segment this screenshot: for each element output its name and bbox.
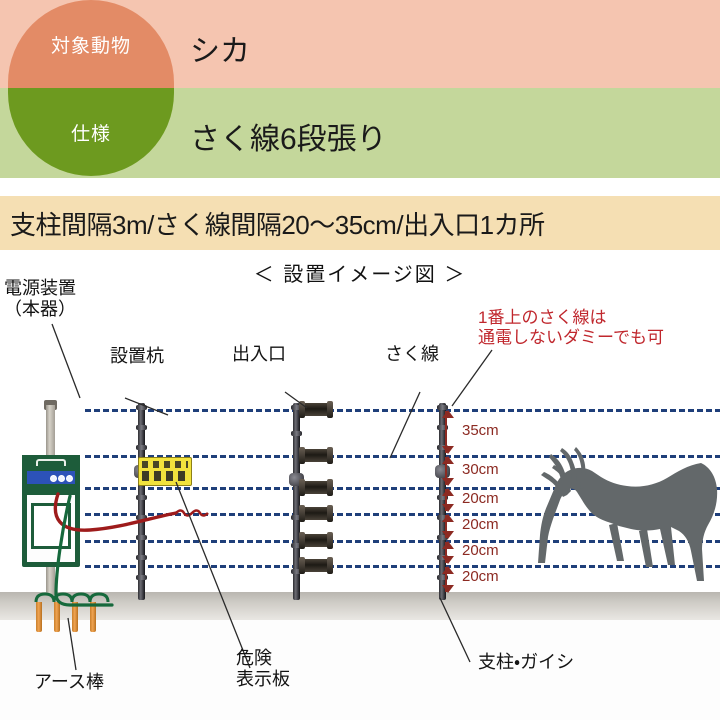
- label-post-insulator: 支柱・ガイシ: [478, 652, 574, 673]
- dimension-arrow-5: [445, 542, 447, 563]
- label-gate: 出入口: [232, 344, 286, 365]
- target-animal-value: シカ: [190, 26, 250, 70]
- leader-stake: [125, 398, 168, 415]
- leader-earth-rod: [68, 618, 76, 670]
- label-fence-wire: さく線: [385, 344, 439, 365]
- dimension-arrow-3: [445, 489, 447, 511]
- dimension-arrow-2: [445, 457, 447, 485]
- label-power-unit-line2: （本器）: [4, 299, 76, 320]
- specification-value: さく線6段張り: [190, 114, 387, 158]
- earth-lead-wire: [56, 496, 112, 605]
- deer-silhouette-icon: [505, 445, 720, 597]
- badge-target-animal-label: 対象動物: [51, 31, 131, 58]
- dimension-label-1: 35cm: [462, 422, 499, 439]
- label-danger-sign: 危険 表示板: [236, 648, 290, 690]
- label-stake: 設置杭: [110, 346, 164, 367]
- note-top-wire-dummy-line2: 通電しないダミーでも可: [478, 328, 664, 348]
- label-power-unit-line1: 電源装置: [4, 278, 76, 299]
- badge-specification-label: 仕様: [71, 119, 111, 146]
- dimension-arrow-1: [445, 411, 447, 453]
- hot-lead-wire: [55, 494, 176, 530]
- note-top-wire-dummy-line1: 1番上のさく線は: [478, 308, 664, 328]
- dimension-label-5: 20cm: [462, 542, 499, 559]
- dimension-arrow-6: [445, 567, 447, 592]
- detail-spec-text: 支柱間隔3m/さく線間隔20〜35cm/出入口1カ所: [10, 205, 545, 242]
- leader-gate: [285, 392, 307, 408]
- hot-lead-coil: [176, 511, 208, 516]
- leader-post-insulator: [440, 598, 470, 662]
- label-danger-sign-line1: 危険: [236, 648, 290, 669]
- leader-danger-sign: [176, 482, 250, 668]
- leader-power-unit: [52, 324, 80, 398]
- dimension-label-4: 20cm: [462, 516, 499, 533]
- label-earth-rod: アース棒: [34, 672, 104, 693]
- dimension-arrow-4: [445, 515, 447, 538]
- installation-diagram: ＜ 設置イメージ図 ＞: [0, 250, 720, 720]
- fence-spec-page: 対象動物 仕様 シカ さく線6段張り 支柱間隔3m/さく線間隔20〜35cm/出…: [0, 0, 720, 720]
- note-top-wire-dummy: 1番上のさく線は 通電しないダミーでも可: [478, 308, 664, 348]
- earth-rod-loops: [36, 594, 108, 602]
- label-danger-sign-line2: 表示板: [236, 669, 290, 690]
- label-power-unit: 電源装置 （本器）: [4, 278, 76, 320]
- dimension-label-2: 30cm: [462, 461, 499, 478]
- leader-fence-wire: [390, 392, 420, 458]
- leader-red-note: [452, 350, 492, 406]
- dimension-label-6: 20cm: [462, 568, 499, 585]
- dimension-label-3: 20cm: [462, 490, 499, 507]
